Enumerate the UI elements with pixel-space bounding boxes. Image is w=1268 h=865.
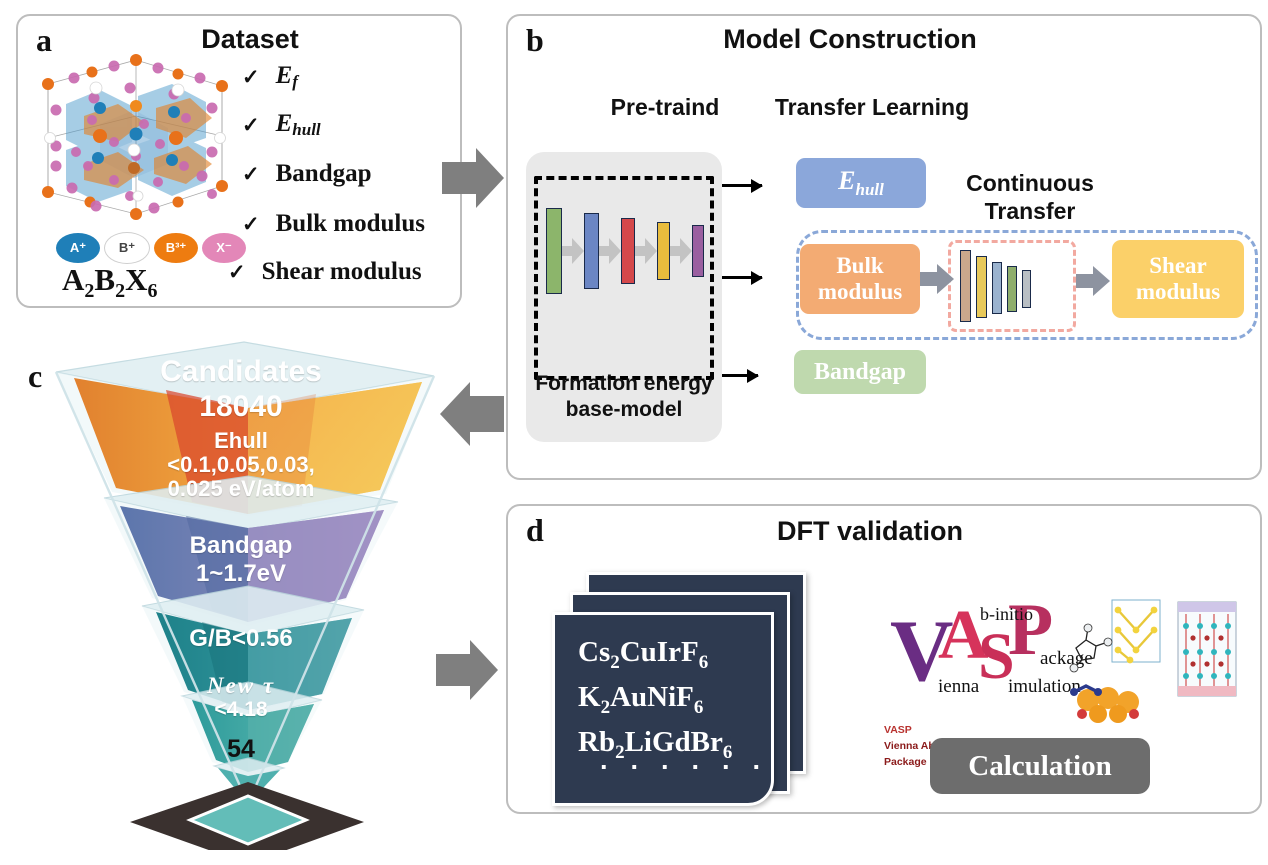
- transfer-slab-2: [992, 262, 1002, 314]
- base-model-layers: [546, 208, 704, 294]
- property-label-0: Ef: [276, 62, 298, 92]
- property-row-0: ✓ Ef: [242, 62, 298, 92]
- property-row-1: ✓ Ehull: [242, 110, 321, 140]
- crystal-structure-icon: [26, 46, 242, 230]
- formula-x-sub: 6: [147, 280, 157, 302]
- layer-arrow-icon: [562, 238, 584, 264]
- output-ehull-text: Ehull: [838, 166, 884, 199]
- funnel-stage-1-criterion: 1~1.7eV: [16, 560, 466, 588]
- vasp-caption-line3: Package: [884, 754, 927, 770]
- layer-arrow-icon: [635, 238, 657, 264]
- funnel-stage-0-criterion-line1: Ehull: [16, 428, 466, 454]
- arrow-transfernet-to-shear: [1076, 266, 1110, 296]
- check-icon: ✓: [228, 262, 246, 283]
- compound-0: Cs2CuIrF6: [578, 632, 732, 677]
- check-icon: ✓: [242, 67, 260, 88]
- funnel-stage-0-count: 18040: [16, 390, 466, 424]
- connector-c-to-d-arrow-icon: [434, 632, 504, 712]
- svg-text:ienna: ienna: [938, 676, 980, 697]
- formula-b-sub: 2: [115, 280, 125, 302]
- arrow-to-bandgap: [722, 374, 758, 377]
- svg-text:b-initio: b-initio: [980, 604, 1033, 624]
- funnel-final-count: 54: [16, 735, 466, 764]
- shear-modulus-line2: modulus: [1136, 279, 1220, 305]
- transfer-slab-3: [1007, 266, 1017, 312]
- arrow-to-bulk-modulus: [722, 276, 762, 279]
- property-row-2: ✓ Bandgap: [242, 160, 372, 188]
- continuous-transfer-line1: Continuous: [950, 170, 1110, 197]
- layer-arrow-icon: [599, 238, 621, 264]
- funnel-stage-1-title: Bandgap: [16, 532, 466, 560]
- formula-b: B: [94, 262, 115, 297]
- legend-chip-b3-cation: B³⁺: [154, 233, 198, 263]
- funnel-stage-3-title: New τ: [16, 673, 466, 699]
- atom-legend: A⁺ B⁺ B³⁺ X⁻: [56, 232, 246, 264]
- check-icon: ✓: [242, 115, 260, 136]
- output-box-bulk-modulus: Bulk modulus: [800, 244, 920, 314]
- continuous-transfer-line2: Transfer: [950, 198, 1110, 225]
- check-icon: ✓: [242, 164, 260, 185]
- output-box-shear-modulus: Shear modulus: [1112, 240, 1244, 318]
- layer-slab-3: [657, 222, 670, 280]
- transfer-slab-0: [960, 250, 971, 322]
- stage-label-pretrain: Pre-traind: [580, 94, 750, 121]
- legend-chip-x-anion: X⁻: [202, 233, 246, 263]
- panel-b-label: b: [526, 22, 544, 59]
- property-row-3: ✓ Bulk modulus: [242, 210, 425, 238]
- bulk-modulus-line2: modulus: [818, 279, 902, 305]
- shear-modulus-line1: Shear: [1149, 253, 1207, 279]
- panel-d-title: DFT validation: [700, 516, 1040, 547]
- connector-b-to-c-arrow-icon: [432, 372, 508, 458]
- funnel-stage-3-criterion: <4.18: [16, 698, 466, 722]
- panel-b-title: Model Construction: [640, 24, 1060, 55]
- layer-slab-2: [621, 218, 635, 284]
- legend-chip-b-cation: B⁺: [104, 232, 150, 264]
- connector-a-to-b-arrow-icon: [440, 140, 510, 220]
- funnel-stage-0-criterion-line2: <0.1,0.05,0.03,: [16, 452, 466, 478]
- transfer-slab-4: [1022, 270, 1031, 308]
- compound-1: K2AuNiF6: [578, 677, 732, 722]
- funnel-stage-2-title: G/B<0.56: [16, 625, 466, 653]
- transfer-model-layers: [960, 250, 1031, 322]
- transfer-slab-1: [976, 256, 987, 318]
- formula-a-sub: 2: [84, 280, 94, 302]
- formula-a: A: [62, 262, 84, 297]
- layer-slab-0: [546, 208, 562, 294]
- property-label-4: Shear modulus: [262, 258, 422, 286]
- base-model-caption-line2: base-model: [518, 398, 730, 422]
- chemical-formula: A2B2X6: [62, 262, 157, 303]
- funnel-stage-0-title: Candidates: [16, 355, 466, 389]
- formula-x: X: [125, 262, 147, 297]
- arrow-to-ehull: [722, 184, 762, 187]
- output-box-ehull: Ehull: [796, 158, 926, 208]
- vasp-caption-line1: VASP: [884, 722, 912, 738]
- layer-arrow-icon: [670, 238, 692, 264]
- bulk-modulus-line1: Bulk: [836, 253, 883, 279]
- layer-slab-4: [692, 225, 704, 277]
- compound-ellipsis: · · · · · ·: [600, 752, 768, 783]
- property-label-2: Bandgap: [276, 160, 372, 188]
- property-label-1: Ehull: [276, 110, 321, 140]
- legend-chip-a-cation: A⁺: [56, 233, 100, 263]
- output-box-bandgap: Bandgap: [794, 350, 926, 394]
- stage-label-transfer-learning: Transfer Learning: [752, 94, 992, 121]
- structure-thumbnails-icon: [1060, 596, 1250, 736]
- compound-list: Cs2CuIrF6 K2AuNiF6 Rb2LiGdBr6: [578, 632, 732, 766]
- base-model-caption-line1: Formation energy: [518, 372, 730, 396]
- calculation-button[interactable]: Calculation: [930, 738, 1150, 794]
- property-row-4: ✓ Shear modulus: [228, 258, 422, 286]
- layer-slab-1: [584, 213, 599, 289]
- funnel-stage-0-criterion-line3: 0.025 eV/atom: [16, 476, 466, 502]
- arrow-bulk-to-transfernet: [920, 264, 954, 294]
- property-label-3: Bulk modulus: [276, 210, 425, 238]
- panel-d-label: d: [526, 512, 544, 549]
